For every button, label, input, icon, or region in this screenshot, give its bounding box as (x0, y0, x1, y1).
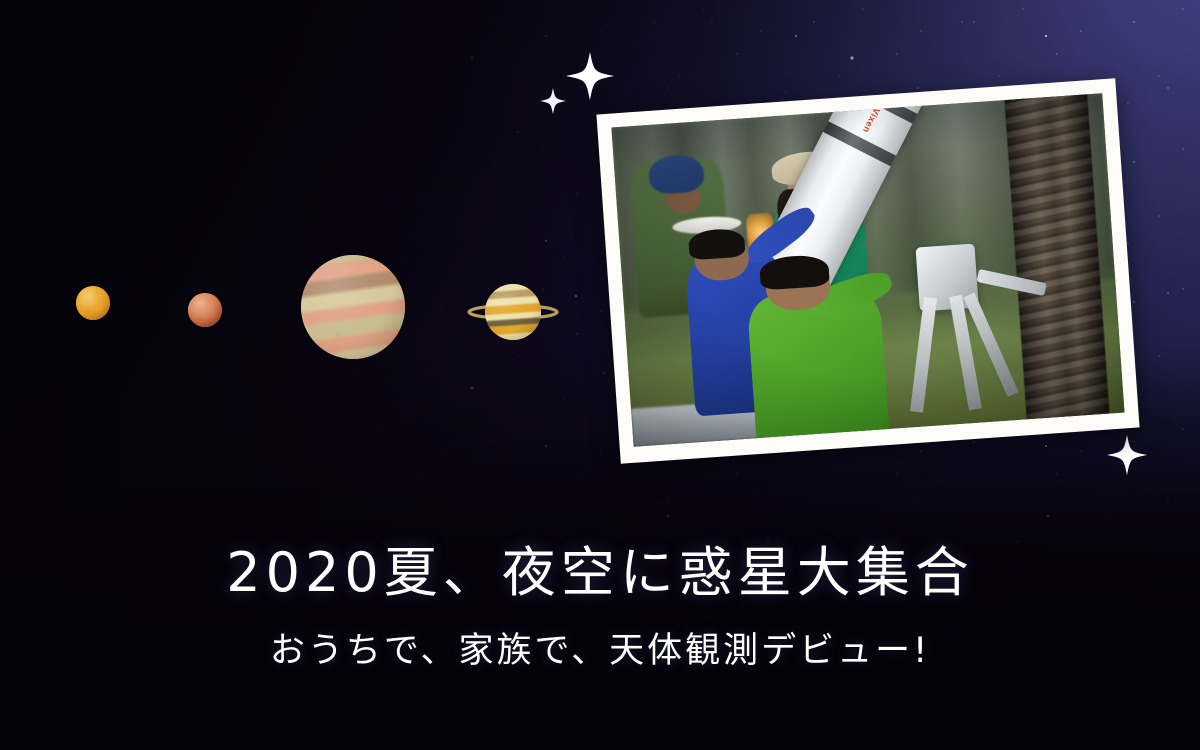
jupiter (301, 255, 405, 359)
mars-shading (188, 293, 222, 327)
saturn (485, 284, 541, 340)
jupiter-shading (301, 255, 405, 359)
subline-block: おうちで、家族で、天体観測デビュー! (0, 634, 1200, 669)
photo-image: Vixen (611, 93, 1124, 447)
page-title: 2020夏、夜空に惑星大集合 (0, 546, 1200, 600)
family-stargazing-photo[interactable]: Vixen (596, 78, 1139, 463)
photo-vignette (611, 93, 1124, 447)
headline-block: 2020夏、夜空に惑星大集合 (0, 546, 1200, 600)
hero-banner: Vixen 2020夏、夜空に惑星大集合 おうちで、家族で、天体観測デビュー! (0, 0, 1200, 750)
page-subtitle: おうちで、家族で、天体観測デビュー! (0, 634, 1200, 669)
saturn-shading (485, 284, 541, 340)
venus-shading (76, 286, 110, 320)
venus (76, 286, 110, 320)
mars (188, 293, 222, 327)
